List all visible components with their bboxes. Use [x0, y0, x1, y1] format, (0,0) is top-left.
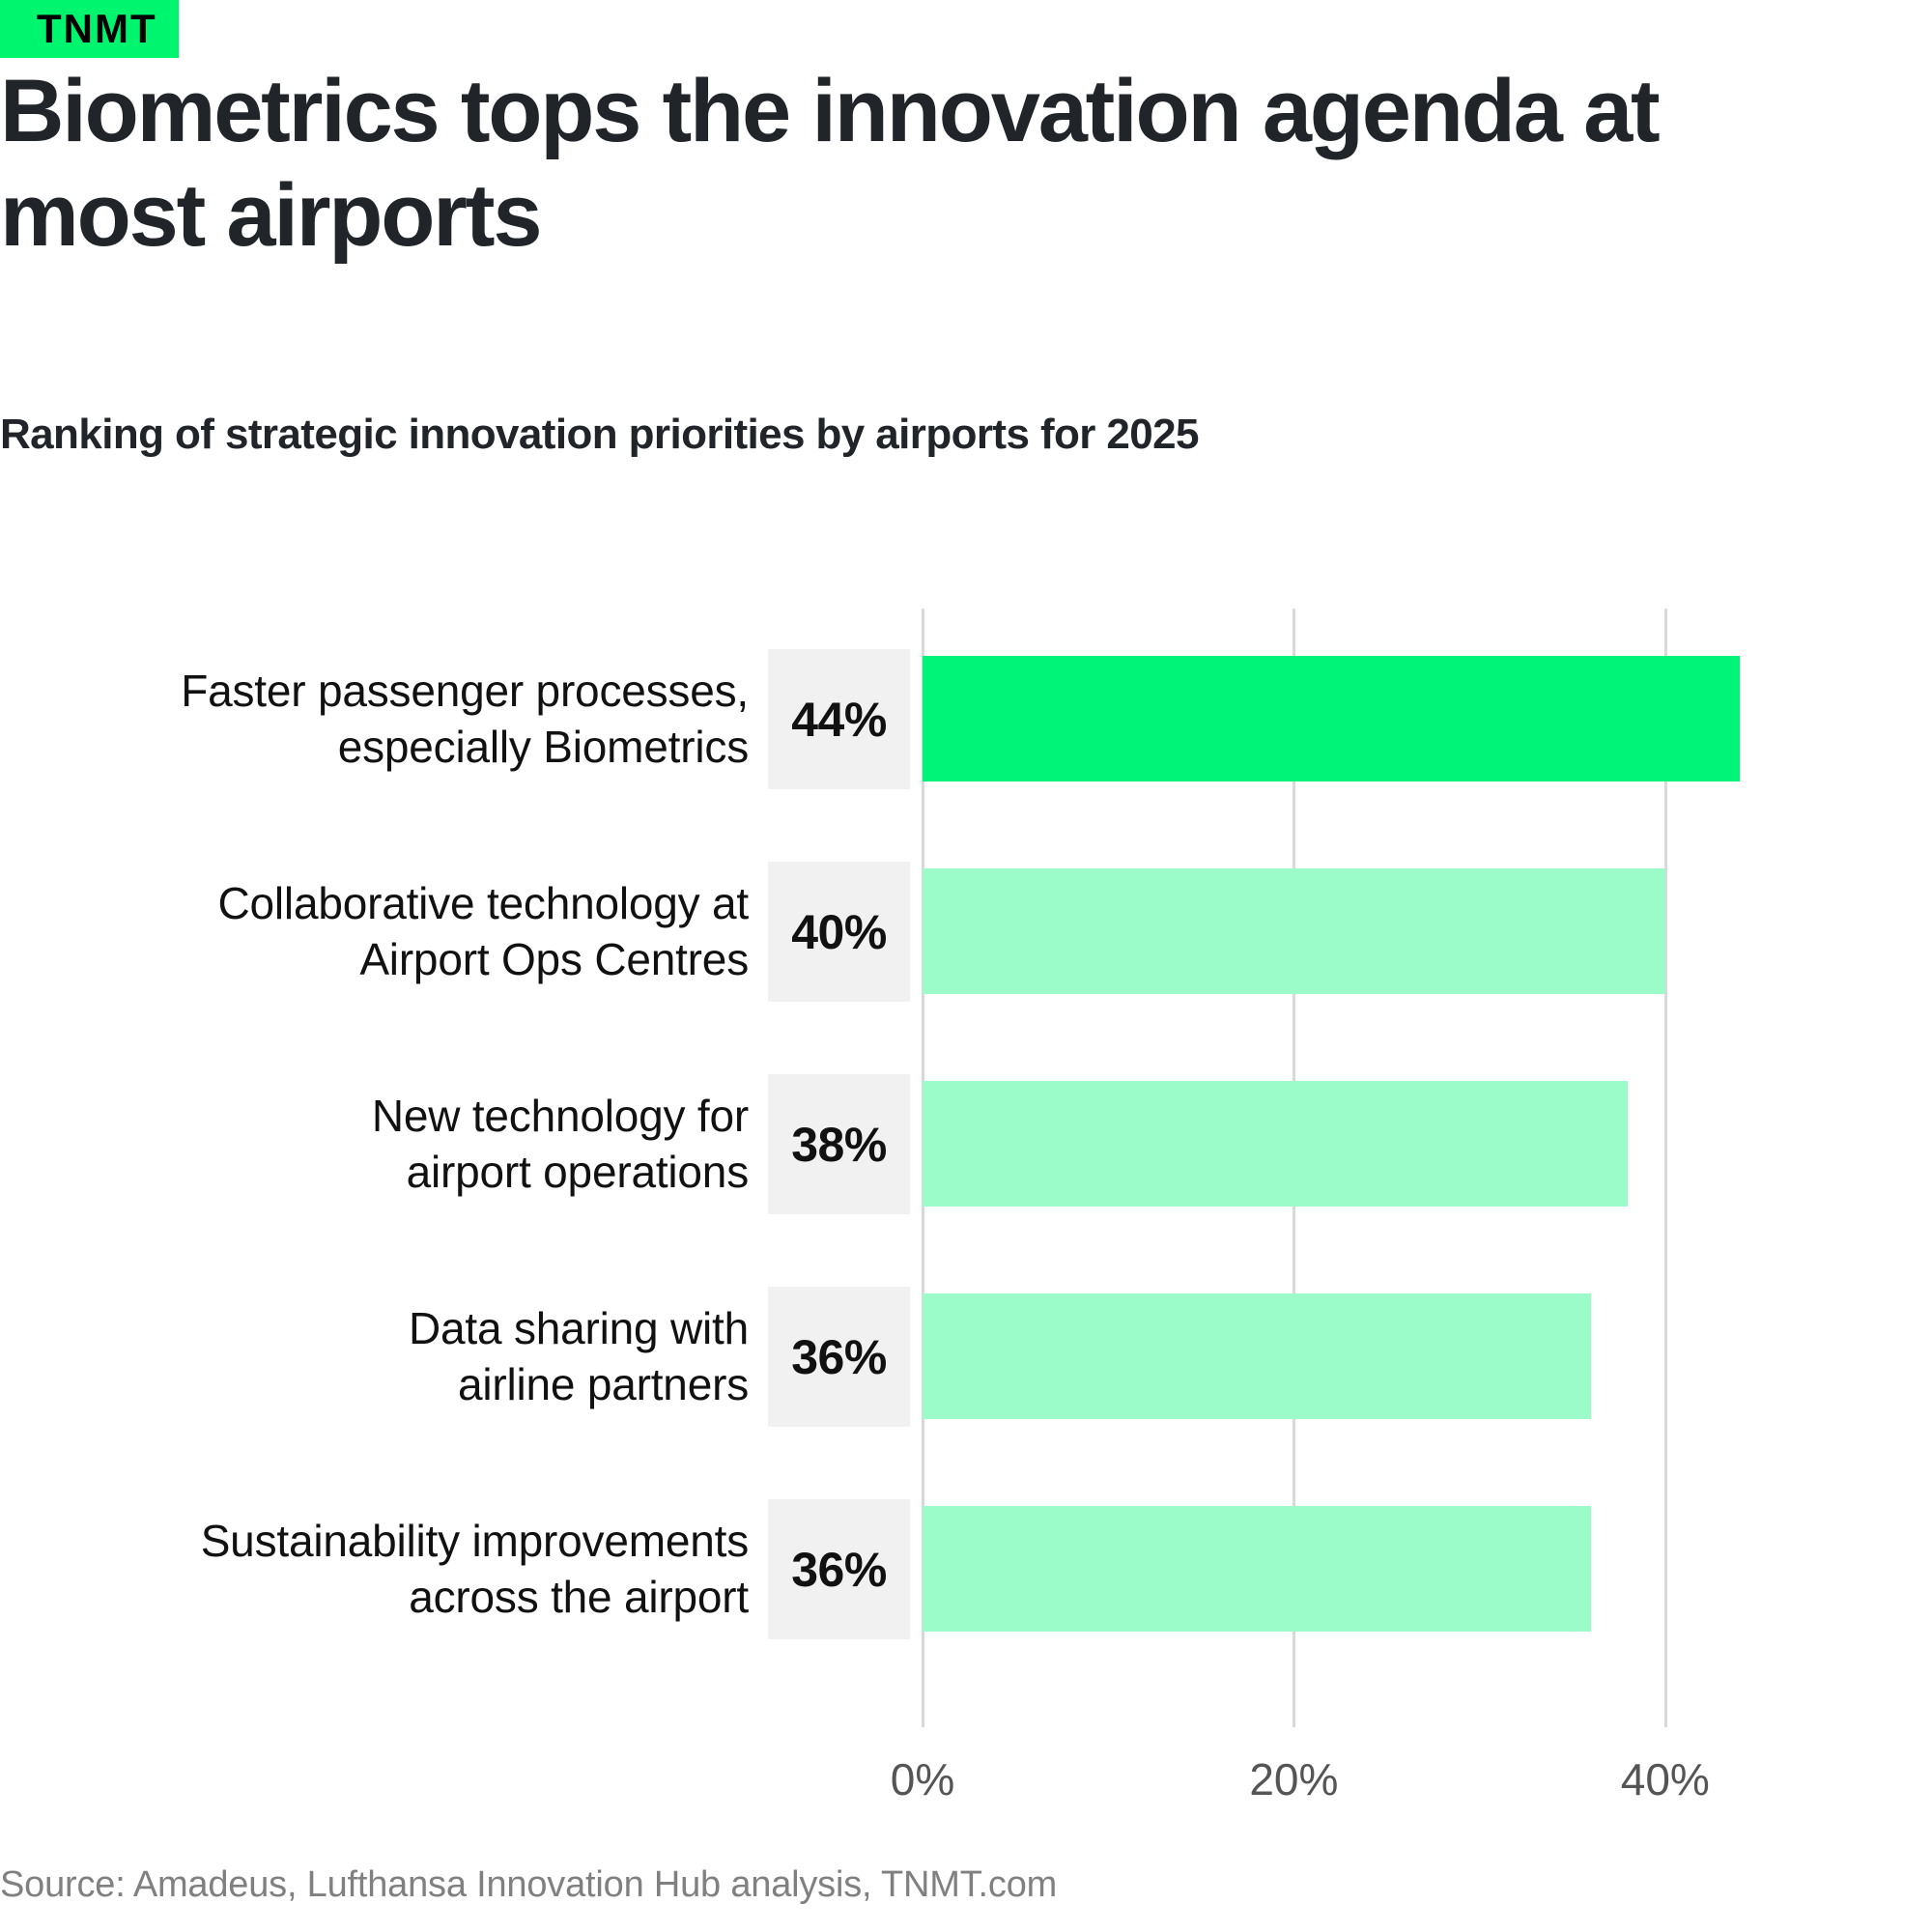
category-label-line: Airport Ops Centres — [19, 932, 749, 989]
x-tick-label: 20% — [1249, 1753, 1338, 1805]
value-label: 36% — [791, 1329, 887, 1385]
chart-row: Faster passenger processes,especially Bi… — [0, 649, 1932, 789]
category-label: Sustainability improvementsacross the ai… — [19, 1513, 749, 1627]
value-label: 44% — [791, 692, 887, 748]
x-tick-label: 40% — [1621, 1753, 1710, 1805]
category-label: New technology forairport operations — [19, 1088, 749, 1202]
bar — [923, 1081, 1628, 1207]
category-label: Faster passenger processes,especially Bi… — [19, 663, 749, 777]
tnmt-logo-text: TNMT — [37, 9, 157, 49]
value-chip: 44% — [768, 649, 910, 789]
x-tick-mark — [922, 1710, 924, 1727]
category-label-line: Data sharing with — [19, 1300, 749, 1357]
category-label-line: airline partners — [19, 1357, 749, 1414]
chart-row: New technology forairport operations38% — [0, 1074, 1932, 1214]
x-tick-mark — [1664, 1710, 1667, 1727]
category-label-line: airport operations — [19, 1145, 749, 1202]
category-label-line: Collaborative technology at — [19, 875, 749, 932]
bar — [923, 1293, 1591, 1419]
tnmt-logo: TNMT — [0, 0, 179, 58]
value-chip: 40% — [768, 862, 910, 1002]
value-label: 38% — [791, 1117, 887, 1173]
category-label-line: Faster passenger processes, — [19, 663, 749, 720]
category-label-line: New technology for — [19, 1088, 749, 1145]
category-label: Data sharing withairline partners — [19, 1300, 749, 1414]
value-chip: 36% — [768, 1499, 910, 1639]
chart-row: Collaborative technology atAirport Ops C… — [0, 862, 1932, 1002]
page-subtitle: Ranking of strategic innovation prioriti… — [0, 411, 1893, 459]
value-chip: 36% — [768, 1287, 910, 1427]
category-label-line: Sustainability improvements — [19, 1513, 749, 1570]
category-label-line: across the airport — [19, 1570, 749, 1627]
source-note: Source: Amadeus, Lufthansa Innovation Hu… — [0, 1864, 1057, 1906]
category-label-line: especially Biometrics — [19, 720, 749, 777]
category-label: Collaborative technology atAirport Ops C… — [19, 875, 749, 989]
value-chip: 38% — [768, 1074, 910, 1214]
chart-row: Data sharing withairline partners36% — [0, 1287, 1932, 1427]
chart-row: Sustainability improvementsacross the ai… — [0, 1499, 1932, 1639]
bar-chart: Faster passenger processes,especially Bi… — [0, 609, 1932, 1748]
page-title: Biometrics tops the innovation agenda at… — [0, 60, 1739, 268]
bar — [923, 868, 1665, 994]
x-tick-label: 0% — [891, 1753, 954, 1805]
value-label: 40% — [791, 904, 887, 960]
bar — [923, 656, 1740, 781]
value-label: 36% — [791, 1542, 887, 1598]
bar — [923, 1506, 1591, 1632]
x-tick-mark — [1293, 1710, 1295, 1727]
